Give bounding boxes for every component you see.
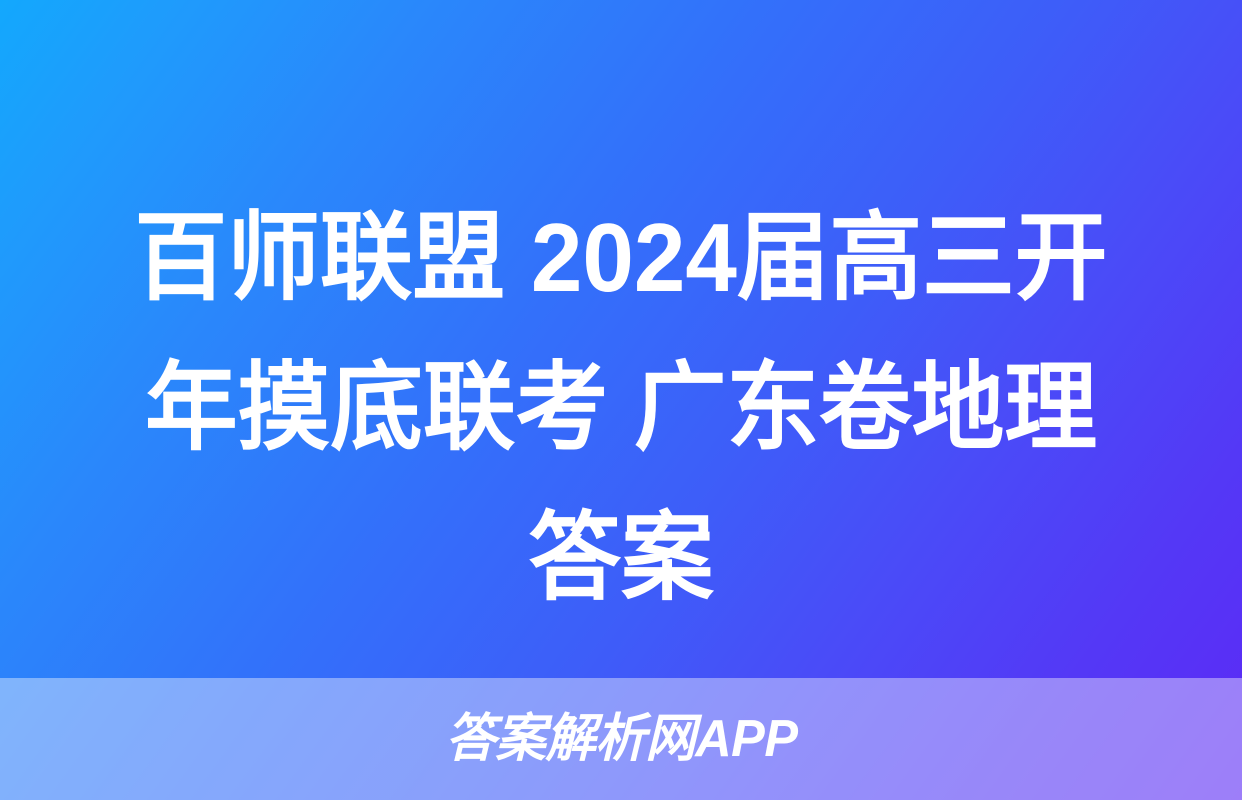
watermark-band: 答案解析网APP — [0, 678, 1242, 800]
watermark-text: 答案解析网APP — [445, 709, 797, 769]
title-line-2: 年摸底联考 广东卷地理 — [55, 333, 1188, 483]
title-line-3: 答案 — [55, 483, 1188, 633]
title-line-1: 百师联盟 2024届高三开 — [55, 183, 1188, 333]
promo-banner: 百师联盟 2024届高三开 年摸底联考 广东卷地理 答案 答案解析网APP — [0, 0, 1242, 800]
banner-title: 百师联盟 2024届高三开 年摸底联考 广东卷地理 答案 — [0, 183, 1242, 633]
